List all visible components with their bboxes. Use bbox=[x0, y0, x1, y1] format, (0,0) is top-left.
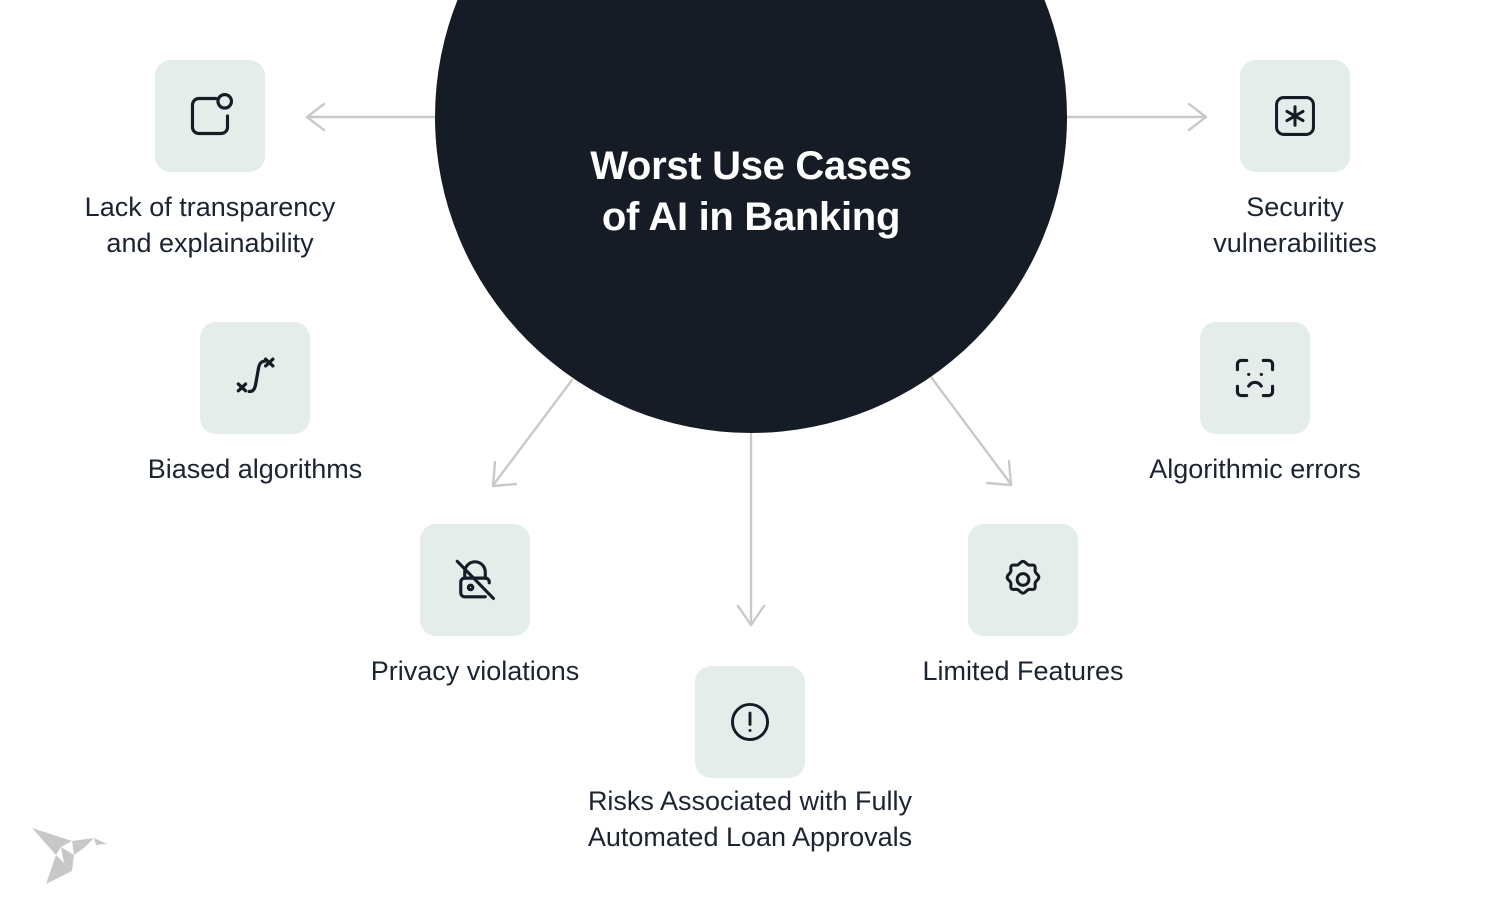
node-features-tile[interactable] bbox=[968, 524, 1078, 636]
central-hub: Worst Use Cases of AI in Banking bbox=[435, 0, 1067, 433]
node-security-label: Security vulnerabilities bbox=[1180, 190, 1410, 262]
diagram-canvas: Worst Use Cases of AI in Banking Lack of… bbox=[0, 0, 1500, 919]
alert-circle-icon bbox=[724, 696, 776, 748]
node-biased-label: Biased algorithms bbox=[110, 452, 400, 488]
face-scan-sad-icon bbox=[1228, 351, 1282, 405]
node-loans-label: Risks Associated with Fully Automated Lo… bbox=[495, 784, 1005, 856]
gear-icon bbox=[997, 554, 1049, 606]
node-biased-tile[interactable] bbox=[200, 322, 310, 434]
arrow-to-features bbox=[931, 377, 1011, 485]
node-privacy[interactable]: Privacy violations bbox=[420, 524, 530, 636]
node-loans-tile[interactable] bbox=[695, 666, 805, 778]
node-features-label: Limited Features bbox=[893, 654, 1153, 690]
node-features[interactable]: Limited Features bbox=[968, 524, 1078, 636]
hub-title-line-1: Worst Use Cases bbox=[516, 141, 986, 192]
arrow-to-transparency bbox=[307, 104, 450, 130]
origami-bird-logo bbox=[28, 814, 116, 894]
node-privacy-tile[interactable] bbox=[420, 524, 530, 636]
arrow-to-privacy bbox=[493, 380, 572, 486]
node-algorithmic-tile[interactable] bbox=[1200, 322, 1310, 434]
integral-function-icon bbox=[226, 349, 284, 407]
node-transparency[interactable]: Lack of transparency and explainability bbox=[155, 60, 265, 172]
node-biased[interactable]: Biased algorithms bbox=[200, 322, 310, 434]
node-algorithmic[interactable]: Algorithmic errors bbox=[1200, 322, 1310, 434]
node-security-tile[interactable] bbox=[1240, 60, 1350, 172]
asterisk-square-icon bbox=[1268, 89, 1322, 143]
node-transparency-label: Lack of transparency and explainability bbox=[40, 190, 380, 262]
node-algorithmic-label: Algorithmic errors bbox=[1110, 452, 1400, 488]
node-security[interactable]: Security vulnerabilities bbox=[1240, 60, 1350, 172]
lock-slash-icon bbox=[447, 552, 503, 608]
node-loans[interactable]: Risks Associated with Fully Automated Lo… bbox=[695, 666, 805, 778]
hub-title: Worst Use Cases of AI in Banking bbox=[516, 141, 986, 243]
arrow-to-security bbox=[1050, 104, 1206, 130]
node-privacy-label: Privacy violations bbox=[340, 654, 610, 690]
transparency-square-icon bbox=[182, 88, 238, 144]
node-transparency-tile[interactable] bbox=[155, 60, 265, 172]
arrow-to-loans bbox=[738, 432, 764, 625]
hub-title-line-2: of AI in Banking bbox=[516, 192, 986, 243]
